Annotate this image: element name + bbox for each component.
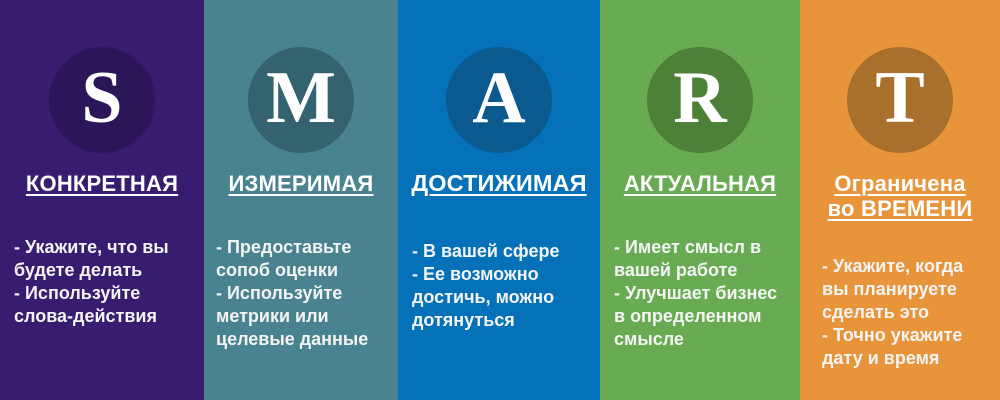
heading-line: АКТУАЛЬНАЯ	[604, 171, 796, 196]
bullet-line: - Улучшает бизнес	[614, 282, 798, 305]
bullet-line: смысле	[614, 328, 798, 351]
column-bullets-achievable: - В вашей сфере - Ее возможно достичь, м…	[398, 240, 600, 332]
bullet-line: - Используйте	[14, 282, 196, 305]
letter-badge-s: S	[49, 47, 155, 153]
smart-column-measurable: M ИЗМЕРИМАЯ - Предоставьте сопоб оценки …	[204, 0, 398, 400]
column-heading-time-bound: Ограничена во ВРЕМЕНИ	[800, 171, 1000, 221]
bullet-line: будете делать	[14, 259, 196, 282]
column-bullets-specific: - Укажите, что вы будете делать - Исполь…	[0, 236, 204, 328]
column-heading-relevant: АКТУАЛЬНАЯ	[600, 171, 800, 196]
bullet-line: - Точно укажите	[822, 324, 994, 347]
letter-a-icon: A	[472, 61, 525, 135]
heading-line: Ограничена	[804, 171, 996, 196]
bullet-line: дату и время	[822, 347, 994, 370]
letter-badge-r: R	[647, 47, 753, 153]
smart-column-relevant: R АКТУАЛЬНАЯ - Имеет смысл в вашей работ…	[600, 0, 800, 400]
heading-line: ДОСТИЖИМАЯ	[402, 171, 596, 196]
column-bullets-time-bound: - Укажите, когда вы планируете сделать э…	[800, 255, 1000, 370]
heading-line: во ВРЕМЕНИ	[804, 196, 996, 221]
letter-badge-t: T	[847, 47, 953, 153]
bullet-line: вашей работе	[614, 259, 798, 282]
bullet-line: сопоб оценки	[216, 259, 394, 282]
bullet-line: достичь, можно	[412, 286, 594, 309]
bullet-line: дотянуться	[412, 309, 594, 332]
letter-r-icon: R	[673, 61, 726, 135]
smart-column-time-bound: T Ограничена во ВРЕМЕНИ - Укажите, когда…	[800, 0, 1000, 400]
letter-badge-a: A	[446, 47, 552, 153]
column-bullets-relevant: - Имеет смысл в вашей работе - Улучшает …	[600, 236, 800, 351]
column-heading-measurable: ИЗМЕРИМАЯ	[204, 171, 398, 196]
bullet-line: - Укажите, когда	[822, 255, 994, 278]
bullet-line: слова-действия	[14, 305, 196, 328]
heading-line: ИЗМЕРИМАЯ	[208, 171, 394, 196]
letter-badge-m: M	[248, 47, 354, 153]
bullet-line: метрики или	[216, 305, 394, 328]
column-heading-achievable: ДОСТИЖИМАЯ	[398, 171, 600, 196]
heading-line: КОНКРЕТНАЯ	[4, 171, 200, 196]
bullet-line: - Используйте	[216, 282, 394, 305]
column-bullets-measurable: - Предоставьте сопоб оценки - Используйт…	[204, 236, 398, 351]
bullet-line: - Ее возможно	[412, 263, 594, 286]
bullet-line: - Имеет смысл в	[614, 236, 798, 259]
letter-m-icon: M	[266, 61, 336, 135]
bullet-line: вы планируете	[822, 278, 994, 301]
column-heading-specific: КОНКРЕТНАЯ	[0, 171, 204, 196]
bullet-line: - Укажите, что вы	[14, 236, 196, 259]
smart-column-specific: S КОНКРЕТНАЯ - Укажите, что вы будете де…	[0, 0, 204, 400]
smart-goals-infographic: S КОНКРЕТНАЯ - Укажите, что вы будете де…	[0, 0, 1000, 400]
letter-t-icon: T	[875, 61, 924, 135]
bullet-line: целевые данные	[216, 328, 394, 351]
bullet-line: в определенном	[614, 305, 798, 328]
smart-column-achievable: A ДОСТИЖИМАЯ - В вашей сфере - Ее возмож…	[398, 0, 600, 400]
bullet-line: - Предоставьте	[216, 236, 394, 259]
bullet-line: - В вашей сфере	[412, 240, 594, 263]
letter-s-icon: S	[81, 61, 122, 135]
bullet-line: сделать это	[822, 301, 994, 324]
